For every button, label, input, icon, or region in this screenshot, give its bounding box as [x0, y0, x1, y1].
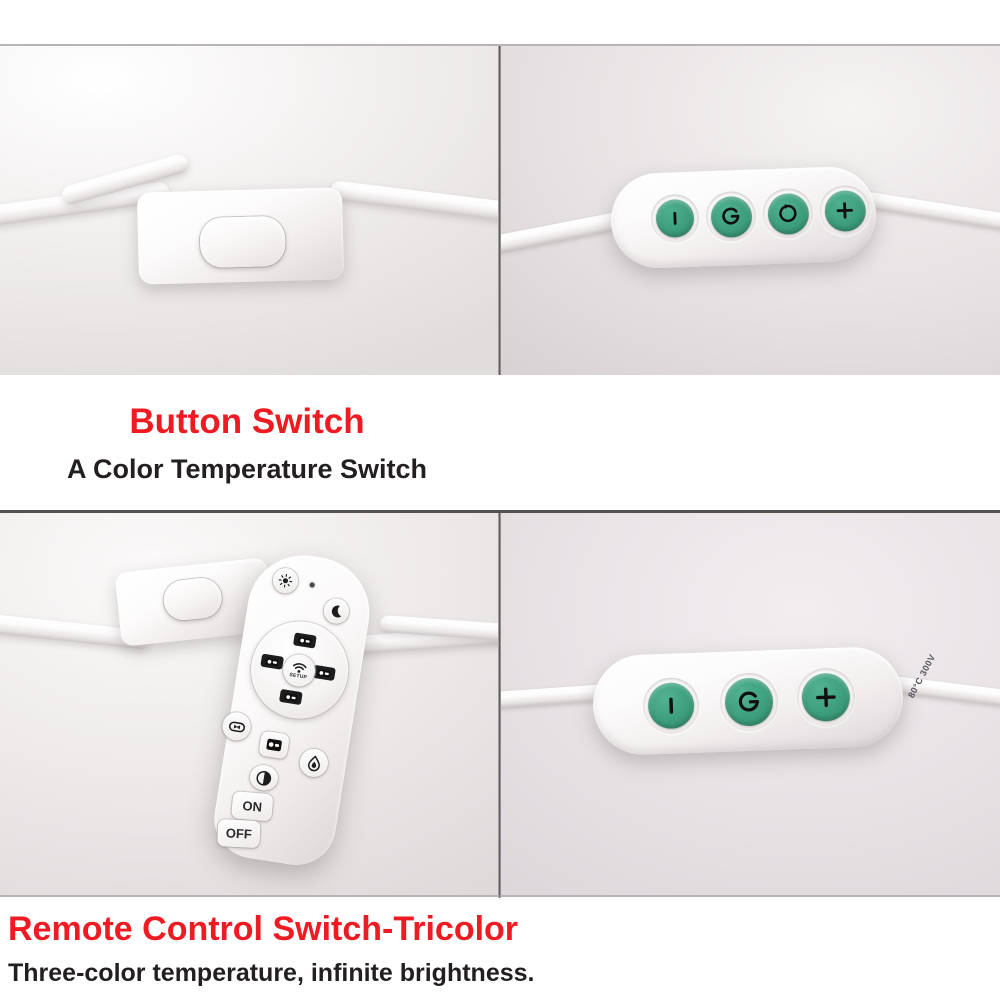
button-minus-br[interactable] [647, 682, 695, 730]
loop-cycle-icon [227, 719, 246, 734]
remote-button-contrast[interactable] [248, 763, 280, 792]
button-power[interactable] [710, 195, 752, 237]
remote-dpad-down[interactable] [279, 689, 303, 705]
button-minus[interactable] [655, 199, 694, 238]
remote-button-off[interactable]: OFF [217, 819, 260, 848]
line-icon [659, 693, 684, 718]
button-power-br[interactable] [724, 677, 774, 727]
button-well-cycle [762, 188, 814, 240]
caption-band-top: Button Switch A Color Temperature Switch [0, 378, 1000, 510]
button-well-power-br [719, 672, 779, 732]
remote-setup-button[interactable]: SETUP [281, 652, 318, 689]
contrast-half-icon [255, 769, 273, 787]
remote-dpad-left[interactable] [260, 654, 284, 670]
divider-bottom-vertical [498, 513, 501, 895]
remote-button-on[interactable]: ON [231, 791, 273, 821]
lamp-left-icon [265, 657, 280, 667]
button-well-minus-br [642, 677, 700, 735]
button-plus[interactable] [824, 189, 866, 231]
four-button-switch-body [609, 165, 877, 269]
remote-dpad-up[interactable] [293, 632, 317, 648]
remote-dpad: SETUP [244, 615, 355, 726]
rocker-switch-key-bl[interactable] [162, 576, 224, 622]
remote-dpad-right[interactable] [312, 665, 336, 681]
panel-bottom-left: SETUP [0, 513, 498, 895]
divider-top-above [0, 44, 1000, 46]
remote-led-indicator [309, 582, 315, 588]
caption-bottom-subhead: Three-color temperature, infinite bright… [0, 960, 1000, 986]
remote-button-night[interactable] [322, 597, 351, 626]
scene-icon [265, 737, 283, 752]
collage-root: Button Switch A Color Temperature Switch [0, 0, 1000, 1000]
caption-bottom-headline: Remote Control Switch-Tricolor [0, 912, 1000, 948]
power-icon [719, 204, 744, 229]
remote-setup-label: SETUP [289, 673, 307, 681]
refresh-cycle-icon [775, 201, 800, 226]
lamp-up-icon [297, 635, 312, 645]
panel-bottom-right: 80°C 300V [501, 513, 1000, 895]
button-plus-br[interactable] [801, 672, 851, 722]
line-icon [665, 208, 686, 229]
panel-top-left [0, 45, 498, 375]
plus-icon [811, 683, 840, 712]
remote-button-scene[interactable] [258, 730, 290, 759]
remote-button-brightness[interactable] [271, 566, 300, 595]
caption-top-headline: Button Switch [0, 404, 496, 441]
button-well-plus-br [796, 667, 856, 727]
lamp-right-icon [316, 668, 331, 678]
plus-icon [832, 198, 857, 223]
button-cycle[interactable] [767, 192, 809, 234]
divider-top-vertical [498, 45, 501, 375]
button-well-minus [650, 194, 700, 244]
lamp-down-icon [283, 692, 298, 702]
divider-bottom-above [0, 510, 1000, 513]
three-button-switch-body [591, 646, 904, 757]
rocker-switch-key[interactable] [200, 216, 286, 268]
caption-top-subhead: A Color Temperature Switch [0, 455, 496, 483]
button-well-plus [819, 185, 871, 237]
caption-band-bottom: Remote Control Switch-Tricolor Three-col… [0, 898, 1000, 1000]
panel-top-right [501, 45, 1000, 375]
flame-icon [305, 753, 322, 772]
power-icon [735, 687, 764, 716]
rocker-switch-body [137, 187, 344, 284]
remote-button-flame[interactable] [298, 747, 330, 779]
moon-night-icon [328, 602, 345, 619]
sun-brightness-icon [277, 572, 294, 589]
button-well-power [705, 191, 757, 243]
